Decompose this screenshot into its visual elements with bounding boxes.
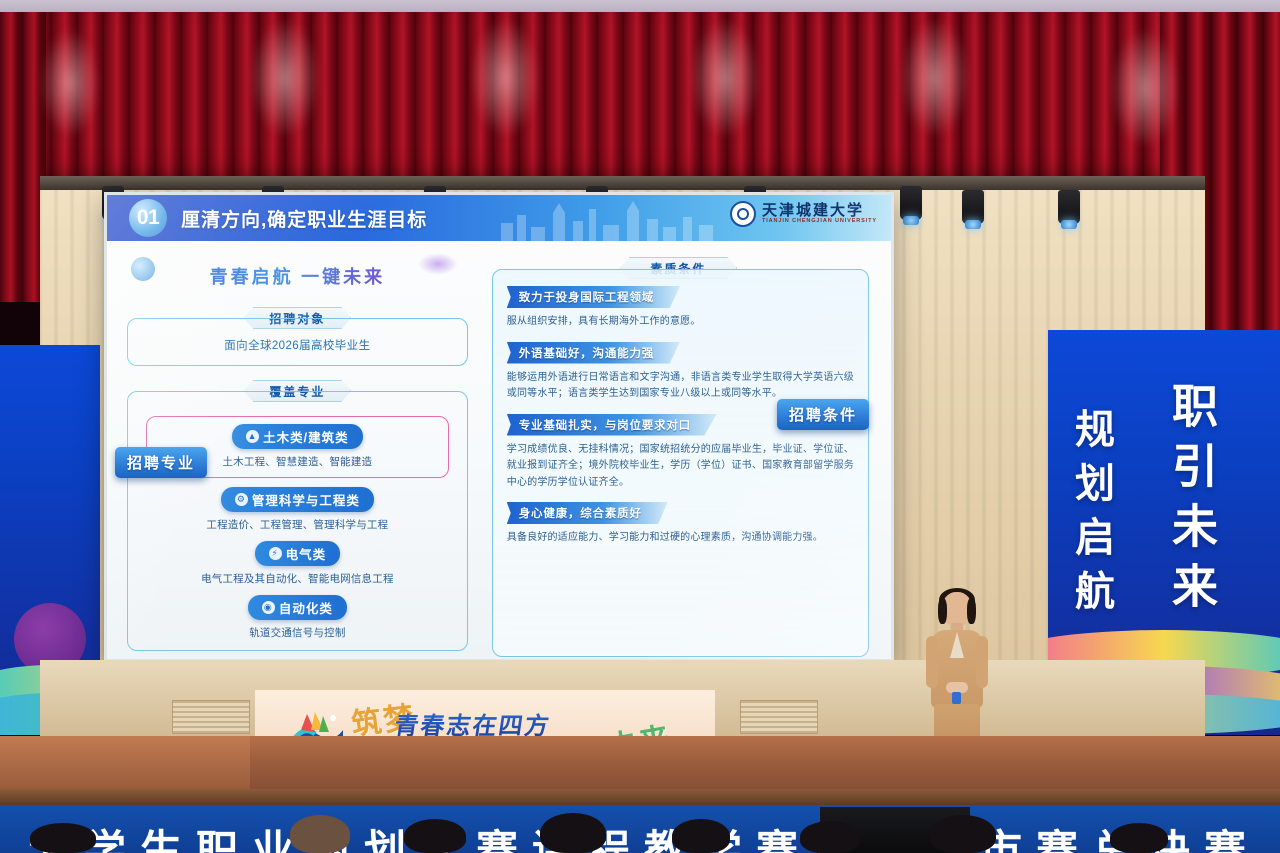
major-tag: ◉ 自动化类	[248, 595, 347, 620]
curtain-light-glow	[690, 18, 760, 138]
audience-head	[672, 819, 730, 853]
major-detail: 电气工程及其自动化、智能电网信息工程	[138, 571, 457, 586]
major-row: ⚙ 管理科学与工程类 工程造价、工程管理、管理科学与工程	[138, 487, 457, 532]
stage-edge	[0, 789, 1280, 805]
condition-title: 身心健康，综合素质好	[507, 502, 668, 524]
condition-text: 服从组织安排，具有长期海外工作的意愿。	[507, 314, 854, 331]
audience-head	[1110, 823, 1168, 853]
lighting-truss	[40, 176, 1205, 190]
condition-item: 致力于投身国际工程领域 服从组织安排，具有长期海外工作的意愿。	[507, 286, 854, 331]
target-box: 面向全球2026届高校毕业生	[127, 318, 468, 366]
recruiting-majors-tag: 招聘专业	[115, 447, 207, 478]
city-skyline-icon	[491, 199, 721, 241]
major-row: ⚡ 电气类 电气工程及其自动化、智能电网信息工程	[138, 541, 457, 586]
audience-head	[30, 823, 96, 853]
foreground-banner: 大学生职业规划大赛课程教学赛道天津市赛总决赛	[0, 805, 1280, 853]
stage-curtain	[0, 12, 1280, 197]
conditions-box: 致力于投身国际工程领域 服从组织安排，具有长期海外工作的意愿。 外语基础好，沟通…	[492, 269, 869, 657]
wall-vent	[172, 700, 250, 734]
major-tag: ⚙ 管理科学与工程类	[221, 487, 374, 512]
audience-head	[930, 815, 996, 853]
university-name-en: TIANJIN CHENGJIAN UNIVERSITY	[762, 219, 877, 225]
projection-screen-frame: 01 厘清方向,确定职业生涯目标 天津城建大学 TIANJIN CHENGJIA…	[104, 192, 894, 662]
presenter-arm	[976, 636, 988, 688]
backdrop-vertical-text-right: 职引未来	[1158, 382, 1224, 622]
bolt-icon: ⚡	[269, 547, 282, 560]
stage-light	[962, 190, 984, 224]
curtain-light-glow	[1110, 28, 1180, 148]
stage-photograph: 规划启航 职引未来 01 厘清方向,确定职业生涯目标	[0, 0, 1280, 853]
major-tag: ⚡ 电气类	[255, 541, 341, 566]
foreground-banner-text: 大学生职业规划大赛课程教学赛道天津市赛总决赛	[28, 817, 1268, 853]
major-name: 自动化类	[279, 598, 333, 617]
majors-box: ▲ 土木类/建筑类 土木工程、智慧建造、智能建造 ⚙ 管理科学与工程类	[127, 391, 468, 651]
curtain-light-glow	[250, 18, 320, 138]
audience-head	[290, 815, 350, 853]
slide-number: 01	[129, 199, 167, 237]
condition-title: 致力于投身国际工程领域	[507, 286, 680, 308]
university-seal-icon	[730, 201, 756, 227]
condition-item: 身心健康，综合素质好 具备良好的适应能力、学习能力和过硬的心理素质，沟通协调能力…	[507, 502, 854, 547]
recruiting-conditions-tag: 招聘条件	[777, 399, 869, 430]
slide-body: 青春启航 一键未来 招聘对象 面向全球2026届高校毕业生 覆盖专业	[107, 241, 891, 659]
stage-light	[1058, 190, 1080, 224]
major-name: 电气类	[286, 544, 327, 563]
audience-head	[800, 821, 860, 853]
target-note: 面向全球2026届高校毕业生	[138, 337, 457, 353]
university-logo: 天津城建大学 TIANJIN CHENGJIAN UNIVERSITY	[730, 201, 877, 227]
major-name: 土木类/建筑类	[263, 427, 348, 446]
slide-title: 厘清方向,确定职业生涯目标	[181, 205, 427, 232]
slide-column-left: 青春启航 一键未来 招聘对象 面向全球2026届高校毕业生 覆盖专业	[123, 251, 472, 647]
university-name-cn: 天津城建大学	[762, 203, 877, 219]
major-row: ◉ 自动化类 轨道交通信号与控制	[138, 595, 457, 640]
major-tag: ▲ 土木类/建筑类	[232, 424, 362, 449]
major-name: 管理科学与工程类	[252, 490, 360, 509]
building-icon: ▲	[246, 430, 259, 443]
wall-vent	[740, 700, 818, 734]
condition-text: 具备良好的适应能力、学习能力和过硬的心理素质，沟通协调能力强。	[507, 530, 854, 547]
presenter-arm	[926, 636, 938, 688]
audience-head	[540, 813, 606, 853]
condition-text: 能够运用外语进行日常语言和文字沟通，非语言类专业学生取得大学英语六级或同等水平；…	[507, 370, 854, 403]
slide-column-right: 素质条件 致力于投身国际工程领域 服从组织安排，具有长期海外工作的意愿。 外语基…	[482, 251, 875, 647]
curtain-light-glow	[470, 18, 540, 138]
audience-head	[404, 819, 466, 853]
backdrop-vertical-text-left: 规划启航	[1062, 408, 1120, 624]
gear-icon: ⚙	[235, 493, 248, 506]
stage-light	[900, 186, 922, 220]
major-detail: 工程造价、工程管理、管理科学与工程	[138, 517, 457, 532]
presenter-hair-side	[967, 598, 976, 624]
presenter-badge	[952, 692, 961, 704]
condition-text: 学习成绩优良、无挂科情况；国家统招统分的应届毕业生，毕业证、学位证、就业报到证齐…	[507, 442, 854, 492]
sparkle-decor-icon	[418, 253, 458, 275]
major-detail: 轨道交通信号与控制	[138, 625, 457, 640]
presenter-hair-side	[938, 598, 947, 624]
condition-item: 外语基础好，沟通能力强 能够运用外语进行日常语言和文字沟通，非语言类专业学生取得…	[507, 342, 854, 403]
automation-icon: ◉	[262, 601, 275, 614]
projection-screen: 01 厘清方向,确定职业生涯目标 天津城建大学 TIANJIN CHENGJIA…	[107, 195, 891, 659]
curtain-light-glow	[900, 18, 970, 138]
slide-header: 01 厘清方向,确定职业生涯目标 天津城建大学 TIANJIN CHENGJIA…	[107, 195, 891, 241]
curtain-light-glow	[40, 28, 100, 138]
condition-title: 外语基础好，沟通能力强	[507, 342, 680, 364]
condition-title: 专业基础扎实，与岗位要求对口	[507, 414, 717, 436]
water-drop-icon	[131, 257, 155, 281]
